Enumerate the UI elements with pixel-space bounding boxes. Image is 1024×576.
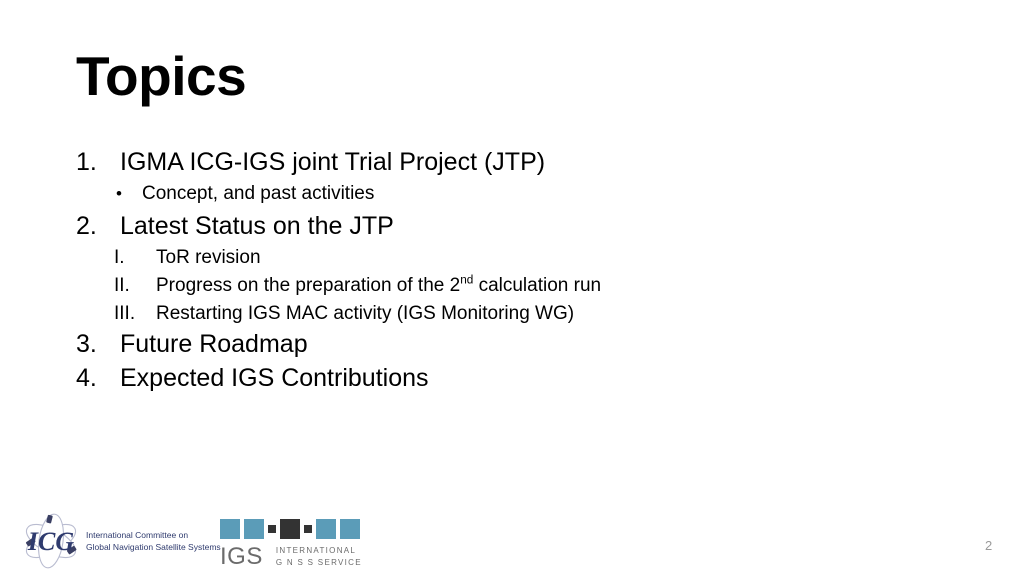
igs-square-teal-2: [244, 519, 264, 539]
page-title: Topics: [76, 48, 246, 106]
icg-orbit-icon: ICG: [20, 512, 82, 570]
igs-logo: IGS INTERNATIONAL G N S S SERVICE: [220, 518, 362, 569]
list-item-label: Future Roadmap: [120, 332, 976, 357]
list-item: III. Restarting IGS MAC activity (IGS Mo…: [114, 304, 976, 323]
list-item-label: Progress on the preparation of the 2nd c…: [156, 276, 601, 295]
igs-square-teal-3: [316, 519, 336, 539]
igs-squares-icon: [220, 518, 362, 540]
ordinal-superscript: nd: [460, 274, 473, 287]
list-item-label: Restarting IGS MAC activity (IGS Monitor…: [156, 304, 574, 323]
icg-tagline-line2: Global Navigation Satellite Systems: [86, 541, 221, 553]
igs-subtitle: INTERNATIONAL G N S S SERVICE: [276, 545, 362, 569]
outline-list: 1. IGMA ICG-IGS joint Trial Project (JTP…: [76, 150, 976, 400]
text-after-superscript: calculation run: [473, 275, 601, 296]
list-item: 3. Future Roadmap: [76, 332, 976, 357]
list-item: II. Progress on the preparation of the 2…: [114, 276, 976, 295]
list-item: I. ToR revision: [114, 248, 976, 267]
slide-canvas: Topics 1. IGMA ICG-IGS joint Trial Proje…: [0, 0, 1024, 576]
igs-square-teal-4: [340, 519, 360, 539]
svg-text:ICG: ICG: [27, 527, 74, 556]
list-item-label: ToR revision: [156, 248, 261, 267]
igs-square-teal-1: [220, 519, 240, 539]
page-number: 2: [985, 538, 992, 553]
list-item-label: Expected IGS Contributions: [120, 366, 976, 391]
igs-square-dot-left: [268, 525, 276, 533]
list-item: 2. Latest Status on the JTP: [76, 214, 976, 239]
text-before-superscript: Progress on the preparation of the 2: [156, 275, 460, 296]
list-item-marker: 3.: [76, 332, 120, 357]
icg-tagline-line1: International Committee on: [86, 529, 221, 541]
igs-subtitle-line2: G N S S SERVICE: [276, 557, 362, 569]
list-item: • Concept, and past activities: [116, 184, 976, 203]
list-item-marker: 4.: [76, 366, 120, 391]
list-item-marker: III.: [114, 304, 156, 323]
bullet-icon: •: [116, 185, 142, 202]
icg-logo: ICG International Committee on Global Na…: [20, 512, 221, 570]
list-item-marker: I.: [114, 248, 156, 267]
list-item-marker: 2.: [76, 214, 120, 239]
igs-wordmark: IGS INTERNATIONAL G N S S SERVICE: [220, 545, 362, 569]
igs-acronym: IGS: [220, 545, 263, 569]
igs-subtitle-line1: INTERNATIONAL: [276, 545, 362, 557]
list-item-marker: II.: [114, 276, 156, 295]
list-item: 4. Expected IGS Contributions: [76, 366, 976, 391]
list-item-label: Concept, and past activities: [142, 184, 374, 203]
list-item-label: IGMA ICG-IGS joint Trial Project (JTP): [120, 150, 976, 175]
icg-tagline: International Committee on Global Naviga…: [86, 529, 221, 554]
igs-square-dark: [280, 519, 300, 539]
list-item-label: Latest Status on the JTP: [120, 214, 976, 239]
list-item-marker: 1.: [76, 150, 120, 175]
list-item: 1. IGMA ICG-IGS joint Trial Project (JTP…: [76, 150, 976, 175]
igs-square-dot-right: [304, 525, 312, 533]
